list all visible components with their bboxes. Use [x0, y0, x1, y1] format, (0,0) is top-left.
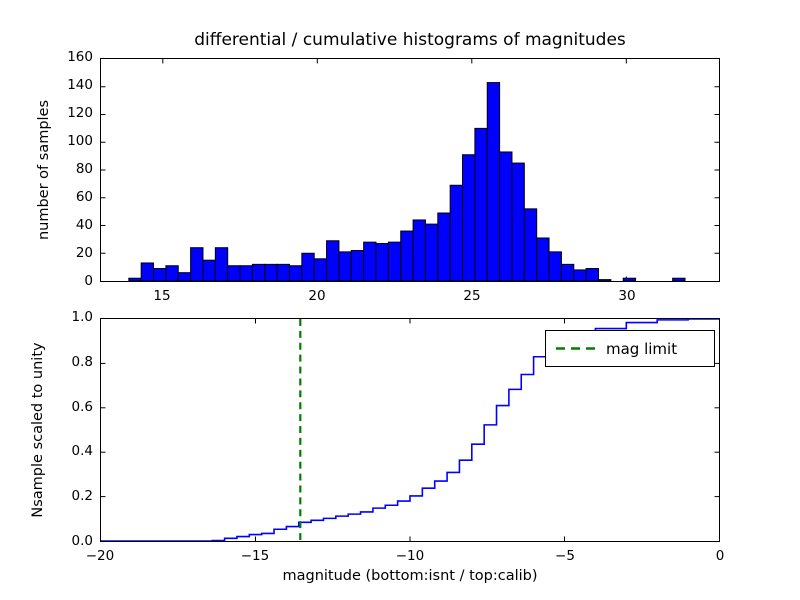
histogram-bar	[475, 128, 487, 281]
y-tick-label: 0	[38, 273, 93, 289]
y-tick-label: 0.2	[38, 488, 93, 504]
y-tick-label: 80	[38, 161, 93, 177]
bottom-y-axis-label: Nsample scaled to unity	[30, 318, 46, 542]
histogram-bar	[314, 259, 326, 281]
x-tick-label: 0	[690, 548, 750, 564]
histogram-bar	[537, 238, 549, 281]
figure-canvas: differential / cumulative histograms of …	[0, 0, 800, 600]
histogram-bar	[154, 269, 166, 281]
x-tick-label: 30	[597, 288, 657, 304]
histogram-bar	[598, 280, 610, 281]
x-tick-label: 20	[287, 288, 347, 304]
histogram-bar	[166, 266, 178, 281]
y-tick-label: 0.6	[38, 399, 93, 415]
histogram-bar	[450, 185, 462, 281]
histogram-bar	[500, 152, 512, 281]
histogram-bar	[339, 252, 351, 281]
y-tick-label: 120	[38, 105, 93, 121]
histogram-bar	[586, 269, 598, 281]
histogram-bar	[673, 278, 685, 281]
histogram-bar	[302, 253, 314, 281]
bottom-x-axis-label: magnitude (bottom:isnt / top:calib)	[100, 568, 720, 584]
histogram-bar	[327, 241, 339, 281]
histogram-bar	[388, 242, 400, 281]
histogram-bar	[401, 231, 413, 281]
histogram-bar	[129, 278, 141, 281]
legend-label-mag-limit: mag limit	[606, 339, 710, 360]
top-histogram-axes	[100, 58, 720, 282]
histogram-bar	[141, 263, 153, 281]
x-tick-label: 15	[132, 288, 192, 304]
histogram-bar	[376, 244, 388, 281]
histogram-bar	[364, 242, 376, 281]
histogram-bar	[289, 266, 301, 281]
y-tick-label: 0.8	[38, 354, 93, 370]
histogram-bar	[413, 220, 425, 281]
y-tick-label: 60	[38, 189, 93, 205]
x-tick-label: −15	[225, 548, 285, 564]
histogram-bar	[623, 278, 635, 281]
x-tick-label: −20	[70, 548, 130, 564]
histogram-bar	[265, 264, 277, 281]
histogram-bar	[425, 224, 437, 281]
histogram-bar	[512, 163, 524, 281]
y-tick-label: 0.0	[38, 533, 93, 549]
histogram-bar	[549, 252, 561, 281]
y-tick-label: 140	[38, 77, 93, 93]
histogram-bar	[191, 248, 203, 281]
histogram-bar	[438, 213, 450, 281]
histogram-bar	[351, 250, 363, 281]
histogram-bar	[561, 264, 573, 281]
y-tick-label: 100	[38, 133, 93, 149]
histogram-bar	[487, 83, 499, 281]
histogram-bar	[228, 266, 240, 281]
histogram-bar	[277, 264, 289, 281]
top-histogram-plot	[101, 59, 719, 281]
x-tick-label: 25	[442, 288, 502, 304]
mag-limit-line-icon	[556, 347, 596, 350]
histogram-bar	[252, 264, 264, 281]
histogram-bar	[203, 260, 215, 281]
y-tick-label: 40	[38, 217, 93, 233]
histogram-bar	[178, 273, 190, 281]
y-tick-label: 20	[38, 245, 93, 261]
x-tick-label: −10	[380, 548, 440, 564]
figure-title: differential / cumulative histograms of …	[100, 30, 720, 50]
y-tick-label: 0.4	[38, 443, 93, 459]
histogram-bar	[524, 209, 536, 281]
y-tick-label: 160	[38, 49, 93, 65]
histogram-bar	[215, 248, 227, 281]
legend: mag limit	[545, 330, 715, 367]
y-tick-label: 1.0	[38, 309, 93, 325]
histogram-bar	[574, 270, 586, 281]
x-tick-label: −5	[535, 548, 595, 564]
histogram-bar	[240, 266, 252, 281]
histogram-bar	[463, 155, 475, 281]
